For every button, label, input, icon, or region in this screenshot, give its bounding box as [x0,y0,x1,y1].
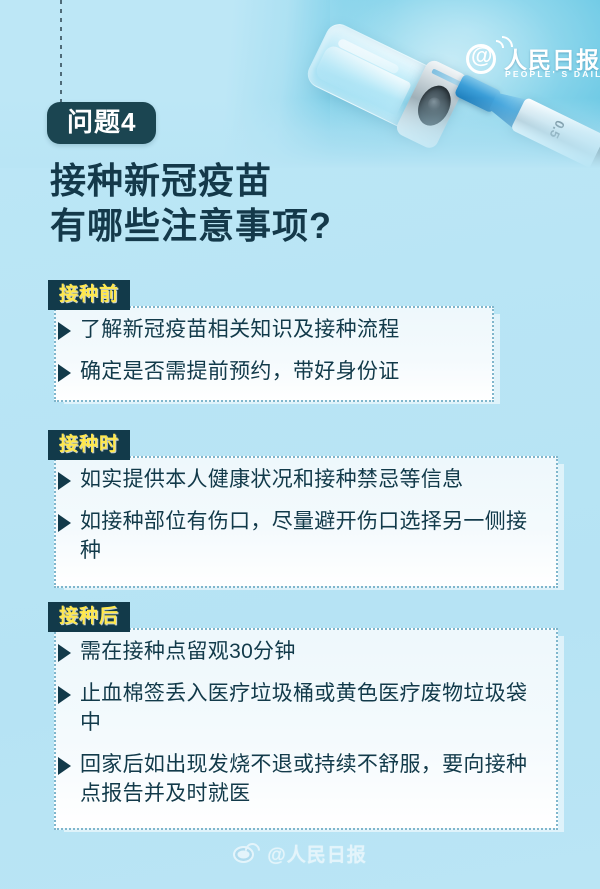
triangle-bullet-icon [58,644,71,662]
list-item: 确定是否需提前预约，带好身份证 [58,358,478,387]
section-during-vaccination: 接种时 如实提供本人健康状况和接种禁忌等信息 如接种部位有伤口，尽量避开伤口选择… [48,430,564,595]
poster-root: 0.5 1.5 人民日报 PEOPLE' S DAILY 问题4 接种新冠疫苗 … [0,0,600,889]
peoples-daily-logo: 人民日报 PEOPLE' S DAILY [466,42,592,88]
section-before-vaccination: 接种前 了解新冠疫苗相关知识及接种流程 确定是否需提前预约，带好身份证 [48,280,500,412]
weibo-icon [233,843,260,865]
triangle-bullet-icon [58,322,71,340]
list-item-text: 了解新冠疫苗相关知识及接种流程 [80,316,400,345]
list-item: 了解新冠疫苗相关知识及接种流程 [58,316,478,345]
question-number-badge: 问题4 [47,102,156,144]
list-item-text: 止血棉签丢入医疗垃圾桶或黄色医疗废物垃圾袋中 [80,680,544,738]
section-bullet-list: 了解新冠疫苗相关知识及接种流程 确定是否需提前预约，带好身份证 [58,316,478,387]
list-item: 止血棉签丢入医疗垃圾桶或黄色医疗废物垃圾袋中 [58,680,544,738]
list-item: 回家后如出现发烧不退或持续不舒服，要向接种点报告并及时就医 [58,751,544,809]
section-after-vaccination: 接种后 需在接种点留观30分钟 止血棉签丢入医疗垃圾桶或黄色医疗废物垃圾袋中 回… [48,602,564,842]
page-title: 接种新冠疫苗 有哪些注意事项? [50,158,332,249]
section-badge-after: 接种后 [48,602,130,632]
list-item-text: 确定是否需提前预约，带好身份证 [80,358,400,387]
footer-handle: @人民日报 [267,840,367,867]
dotted-connector-line [60,0,62,104]
list-item-text: 回家后如出现发烧不退或持续不舒服，要向接种点报告并及时就医 [80,751,544,809]
section-badge-during: 接种时 [48,430,130,460]
section-badge-before: 接种前 [48,280,130,310]
list-item: 如接种部位有伤口，尽量避开伤口选择另一侧接种 [58,508,544,566]
list-item-text: 如接种部位有伤口，尽量避开伤口选择另一侧接种 [80,508,544,566]
logo-subtitle: PEOPLE' S DAILY [505,69,600,79]
list-item-text: 需在接种点留观30分钟 [80,638,296,667]
section-bullet-list: 如实提供本人健康状况和接种禁忌等信息 如接种部位有伤口，尽量避开伤口选择另一侧接… [58,466,544,566]
footer-attribution: @人民日报 [0,840,600,867]
triangle-bullet-icon [58,514,71,532]
section-bullet-list: 需在接种点留观30分钟 止血棉签丢入医疗垃圾桶或黄色医疗废物垃圾袋中 回家后如出… [58,638,544,809]
list-item: 需在接种点留观30分钟 [58,638,544,667]
triangle-bullet-icon [58,757,71,775]
list-item: 如实提供本人健康状况和接种禁忌等信息 [58,466,544,495]
triangle-bullet-icon [58,364,71,382]
triangle-bullet-icon [58,686,71,704]
triangle-bullet-icon [58,472,71,490]
list-item-text: 如实提供本人健康状况和接种禁忌等信息 [80,466,463,495]
